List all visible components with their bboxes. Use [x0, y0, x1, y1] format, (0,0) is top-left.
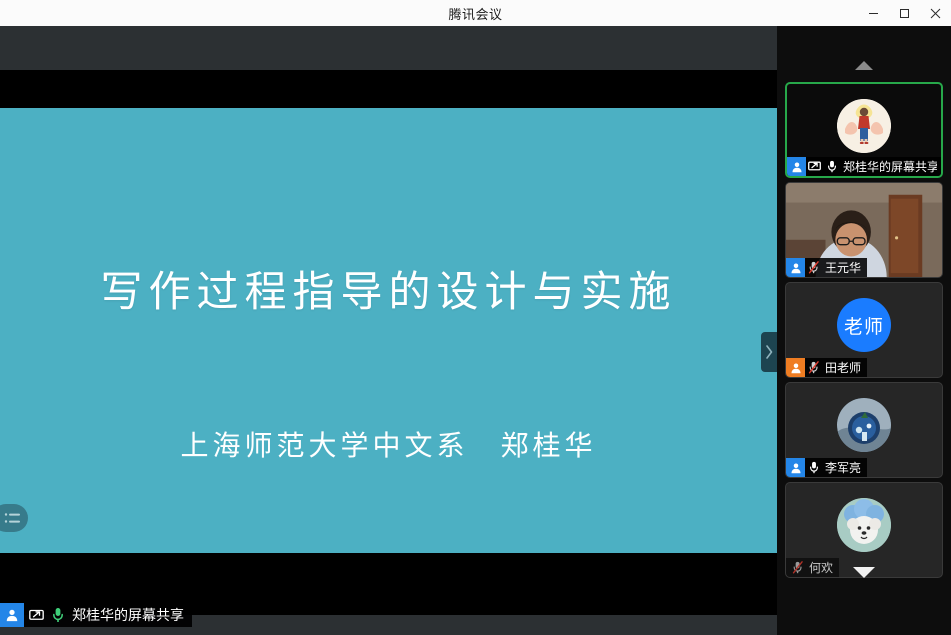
participant-tile[interactable]: 郑桂华的屏幕共享 [785, 82, 943, 178]
maximize-icon [899, 8, 910, 19]
person-icon [786, 258, 805, 277]
title-bar: 腾讯会议 [0, 0, 951, 26]
person-icon [0, 603, 24, 627]
minimize-icon [868, 8, 879, 19]
scroll-up-button[interactable] [777, 52, 951, 78]
person-icon [787, 157, 806, 176]
stage-letterbox-top [0, 70, 777, 108]
microphone-icon [823, 157, 840, 176]
participant-tiles: 郑桂华的屏幕共享 [777, 82, 951, 582]
participant-name: 郑桂华的屏幕共享 [843, 158, 937, 175]
participant-label: 李军亮 [786, 458, 867, 477]
list-icon [3, 511, 23, 525]
maximize-button[interactable] [889, 0, 920, 26]
avatar-initials: 老师 [844, 312, 884, 339]
collapse-panel-button[interactable] [761, 332, 777, 372]
stage-top-bar [0, 26, 777, 70]
minimize-button[interactable] [858, 0, 889, 26]
person-icon [786, 358, 805, 377]
participant-label: 王元华 [786, 258, 867, 277]
screen-share-icon [806, 157, 823, 176]
microphone-icon [48, 603, 68, 627]
participant-name: 李军亮 [825, 459, 861, 476]
participant-name: 王元华 [825, 259, 861, 276]
participant-name: 田老师 [825, 359, 861, 376]
window-controls [858, 0, 951, 26]
avatar [837, 99, 891, 153]
slide-subtitle: 上海师范大学中文系 郑桂华 [0, 424, 777, 464]
slide-title: 写作过程指导的设计与实施 [0, 258, 777, 319]
triangle-down-icon [852, 566, 876, 579]
microphone-icon [805, 458, 822, 477]
slide-list-button[interactable] [0, 504, 28, 532]
participant-panel: 郑桂华的屏幕共享 [777, 26, 951, 635]
screen-share-status-label: 郑桂华的屏幕共享 [0, 603, 192, 627]
presentation-slide: 写作过程指导的设计与实施 上海师范大学中文系 郑桂华 [0, 108, 777, 553]
shared-screen-stage[interactable]: 写作过程指导的设计与实施 上海师范大学中文系 郑桂华 [0, 26, 777, 635]
triangle-up-icon [854, 60, 874, 71]
close-icon [930, 8, 941, 19]
scroll-down-button[interactable] [777, 559, 951, 585]
close-button[interactable] [920, 0, 951, 26]
avatar [837, 398, 891, 452]
microphone-muted-icon [805, 358, 822, 377]
screen-share-status-text: 郑桂华的屏幕共享 [72, 605, 184, 625]
avatar [837, 498, 891, 552]
participant-tile[interactable]: 李军亮 [785, 382, 943, 478]
avatar: 老师 [837, 298, 891, 352]
participant-label: 田老师 [786, 358, 867, 377]
tencent-meeting-window: 腾讯会议 写作过程指导的设计与实施 上海师范大 [0, 0, 951, 635]
chevron-right-icon [765, 345, 773, 359]
participant-label: 郑桂华的屏幕共享 [787, 157, 943, 176]
person-icon [786, 458, 805, 477]
participant-tile[interactable]: 老师 [785, 282, 943, 378]
microphone-muted-icon [805, 258, 822, 277]
participant-tile[interactable]: 王元华 [785, 182, 943, 278]
window-title: 腾讯会议 [448, 4, 502, 23]
screen-share-icon [26, 603, 46, 627]
